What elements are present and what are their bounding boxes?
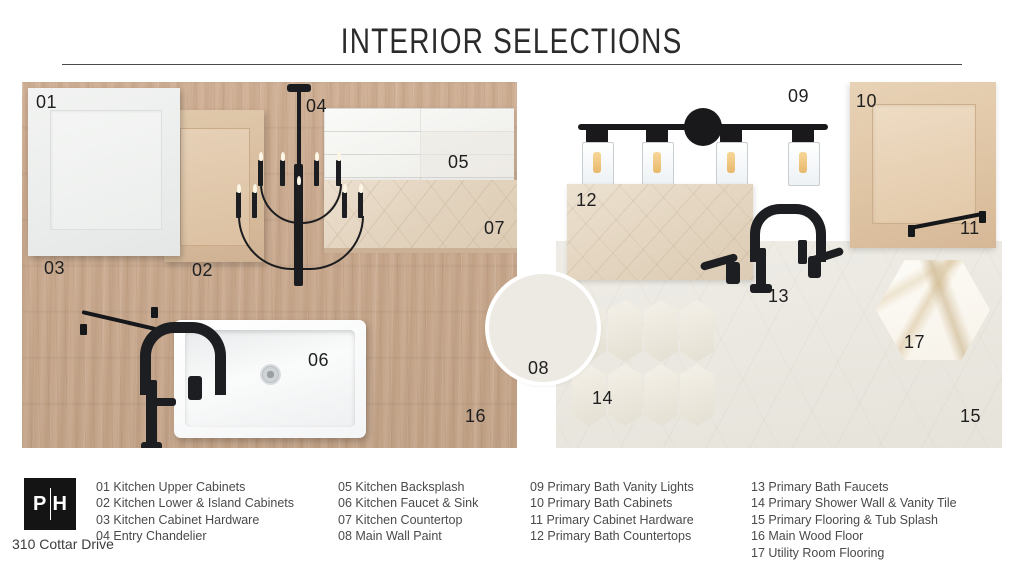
legend-column-4: 13 Primary Bath Faucets 14 Primary Showe… — [751, 479, 957, 561]
pull-post — [908, 225, 915, 237]
faucet-left-handle-base — [726, 262, 740, 284]
chandelier-flame — [343, 184, 347, 193]
marker-04: 04 — [306, 96, 327, 117]
vanity-light-socket — [792, 126, 814, 143]
chandelier-flame — [359, 184, 363, 193]
chandelier-candle — [280, 160, 285, 186]
faucet-base — [141, 442, 162, 448]
chandelier-candle — [236, 192, 241, 218]
vanity-light-socket — [720, 126, 742, 143]
marker-05: 05 — [448, 152, 469, 173]
entry-chandelier-sample[interactable] — [222, 82, 372, 320]
legend-item: 13 Primary Bath Faucets — [751, 479, 957, 495]
logo-letter-p: P — [33, 491, 46, 517]
marker-08: 08 — [528, 358, 549, 379]
chandelier-flame — [253, 184, 257, 193]
faucet-handle — [154, 398, 176, 406]
picket-tile — [680, 300, 714, 362]
picket-tile — [608, 300, 642, 362]
marker-06: 06 — [308, 350, 329, 371]
vanity-light-bulb — [593, 152, 601, 173]
legend-column-2: 05 Kitchen Backsplash 06 Kitchen Faucet … — [338, 479, 478, 545]
vanity-light-backplate — [684, 108, 722, 146]
legend-item: 03 Kitchen Cabinet Hardware — [96, 512, 294, 528]
legend: P H 310 Cottar Drive 01 Kitchen Upper Ca… — [0, 470, 1024, 576]
marker-10: 10 — [856, 91, 877, 112]
chandelier-flame — [315, 152, 319, 161]
company-logo: P H — [24, 478, 76, 530]
sink-drain — [262, 366, 279, 383]
legend-column-1: 01 Kitchen Upper Cabinets 02 Kitchen Low… — [96, 479, 294, 545]
legend-item: 02 Kitchen Lower & Island Cabinets — [96, 495, 294, 511]
pull-post — [80, 324, 87, 335]
picket-tile — [680, 364, 714, 426]
legend-column-3: 09 Primary Bath Vanity Lights 10 Primary… — [530, 479, 694, 545]
kitchen-upper-cabinet-sample[interactable] — [28, 88, 180, 256]
logo-divider — [50, 488, 52, 520]
page-title: INTERIOR SELECTIONS — [341, 22, 683, 62]
marker-01: 01 — [36, 92, 57, 113]
marker-07: 07 — [484, 218, 505, 239]
chandelier-candle — [336, 160, 341, 186]
legend-item: 15 Primary Flooring & Tub Splash — [751, 512, 957, 528]
marker-02: 02 — [192, 260, 213, 281]
legend-item: 09 Primary Bath Vanity Lights — [530, 479, 694, 495]
chandelier-flame — [297, 176, 301, 185]
marker-09: 09 — [788, 86, 809, 107]
marker-15: 15 — [960, 406, 981, 427]
vanity-light-bulb — [653, 152, 661, 173]
marker-03: 03 — [44, 258, 65, 279]
marker-16: 16 — [465, 406, 486, 427]
primary-bath-collage-panel: 09 10 11 12 13 14 17 15 — [556, 82, 1002, 448]
marker-17: 17 — [904, 332, 925, 353]
marker-12: 12 — [576, 190, 597, 211]
legend-item: 10 Primary Bath Cabinets — [530, 495, 694, 511]
picket-tile — [608, 364, 642, 426]
title-divider — [62, 64, 962, 65]
legend-item: 05 Kitchen Backsplash — [338, 479, 478, 495]
faucet-column — [756, 248, 766, 288]
marker-13: 13 — [768, 286, 789, 307]
kitchen-collage-panel: 02 01 03 05 07 — [22, 82, 517, 448]
marker-11: 11 — [960, 218, 980, 239]
chandelier-flame — [259, 152, 263, 161]
faucet-column — [146, 380, 157, 448]
vanity-light-socket — [646, 126, 668, 143]
legend-item: 01 Kitchen Upper Cabinets — [96, 479, 294, 495]
chandelier-candle — [342, 192, 347, 218]
legend-item: 17 Utility Room Flooring — [751, 545, 957, 561]
vanity-light-socket — [586, 126, 608, 143]
legend-item: 16 Main Wood Floor — [751, 528, 957, 544]
faucet-sprayhead — [188, 376, 202, 400]
chandelier-flame — [337, 152, 341, 161]
chandelier-candle — [296, 184, 301, 210]
chandelier-downrod — [297, 90, 301, 168]
faucet-right-handle-base — [808, 256, 821, 278]
legend-item: 06 Kitchen Faucet & Sink — [338, 495, 478, 511]
legend-item: 04 Entry Chandelier — [96, 528, 294, 544]
chandelier-flame — [237, 184, 241, 193]
marker-14: 14 — [592, 388, 613, 409]
chandelier-candle — [314, 160, 319, 186]
header: INTERIOR SELECTIONS — [0, 22, 1024, 62]
chandelier-candle — [258, 160, 263, 186]
chandelier-candle — [252, 192, 257, 218]
vanity-light-bulb — [799, 152, 807, 173]
legend-item: 08 Main Wall Paint — [338, 528, 478, 544]
faucet-spout — [798, 240, 807, 264]
primary-bath-vanity-light-sample[interactable] — [568, 98, 834, 182]
logo-letter-h: H — [53, 491, 67, 517]
chandelier-flame — [281, 152, 285, 161]
legend-item: 12 Primary Bath Countertops — [530, 528, 694, 544]
vanity-light-bulb — [727, 152, 735, 173]
pull-post — [979, 211, 986, 223]
cabinet-panel-inset — [50, 110, 162, 230]
picket-tile — [644, 300, 678, 362]
chandelier-lower-tier — [238, 216, 364, 270]
picket-tile — [644, 364, 678, 426]
kitchen-faucet-sample[interactable] — [140, 314, 212, 448]
cabinet-panel-inset — [872, 104, 976, 224]
legend-item: 07 Kitchen Countertop — [338, 512, 478, 528]
chandelier-candle — [358, 192, 363, 218]
legend-item: 14 Primary Shower Wall & Vanity Tile — [751, 495, 957, 511]
legend-item: 11 Primary Cabinet Hardware — [530, 512, 694, 528]
